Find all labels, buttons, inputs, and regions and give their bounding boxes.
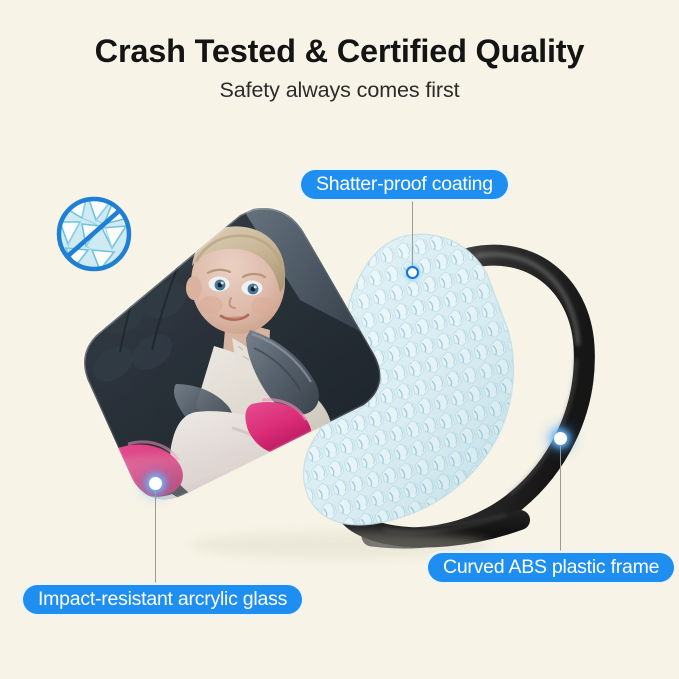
callout-impact-resistant-glass: Impact-resistant arcrylic glass <box>23 585 302 614</box>
leader-line-glass <box>155 483 156 586</box>
leader-line-frame <box>560 438 561 554</box>
marker-dot-glass <box>149 477 162 490</box>
product-feature-infographic: Crash Tested & Certified Quality Safety … <box>0 0 679 679</box>
shatter-proof-icon <box>52 192 136 276</box>
leader-line-coating <box>412 198 413 274</box>
callout-shatter-proof-coating: Shatter-proof coating <box>301 170 508 199</box>
callout-curved-abs-frame: Curved ABS plastic frame <box>428 553 674 582</box>
marker-dot-coating <box>406 266 419 279</box>
marker-dot-frame <box>554 432 567 445</box>
